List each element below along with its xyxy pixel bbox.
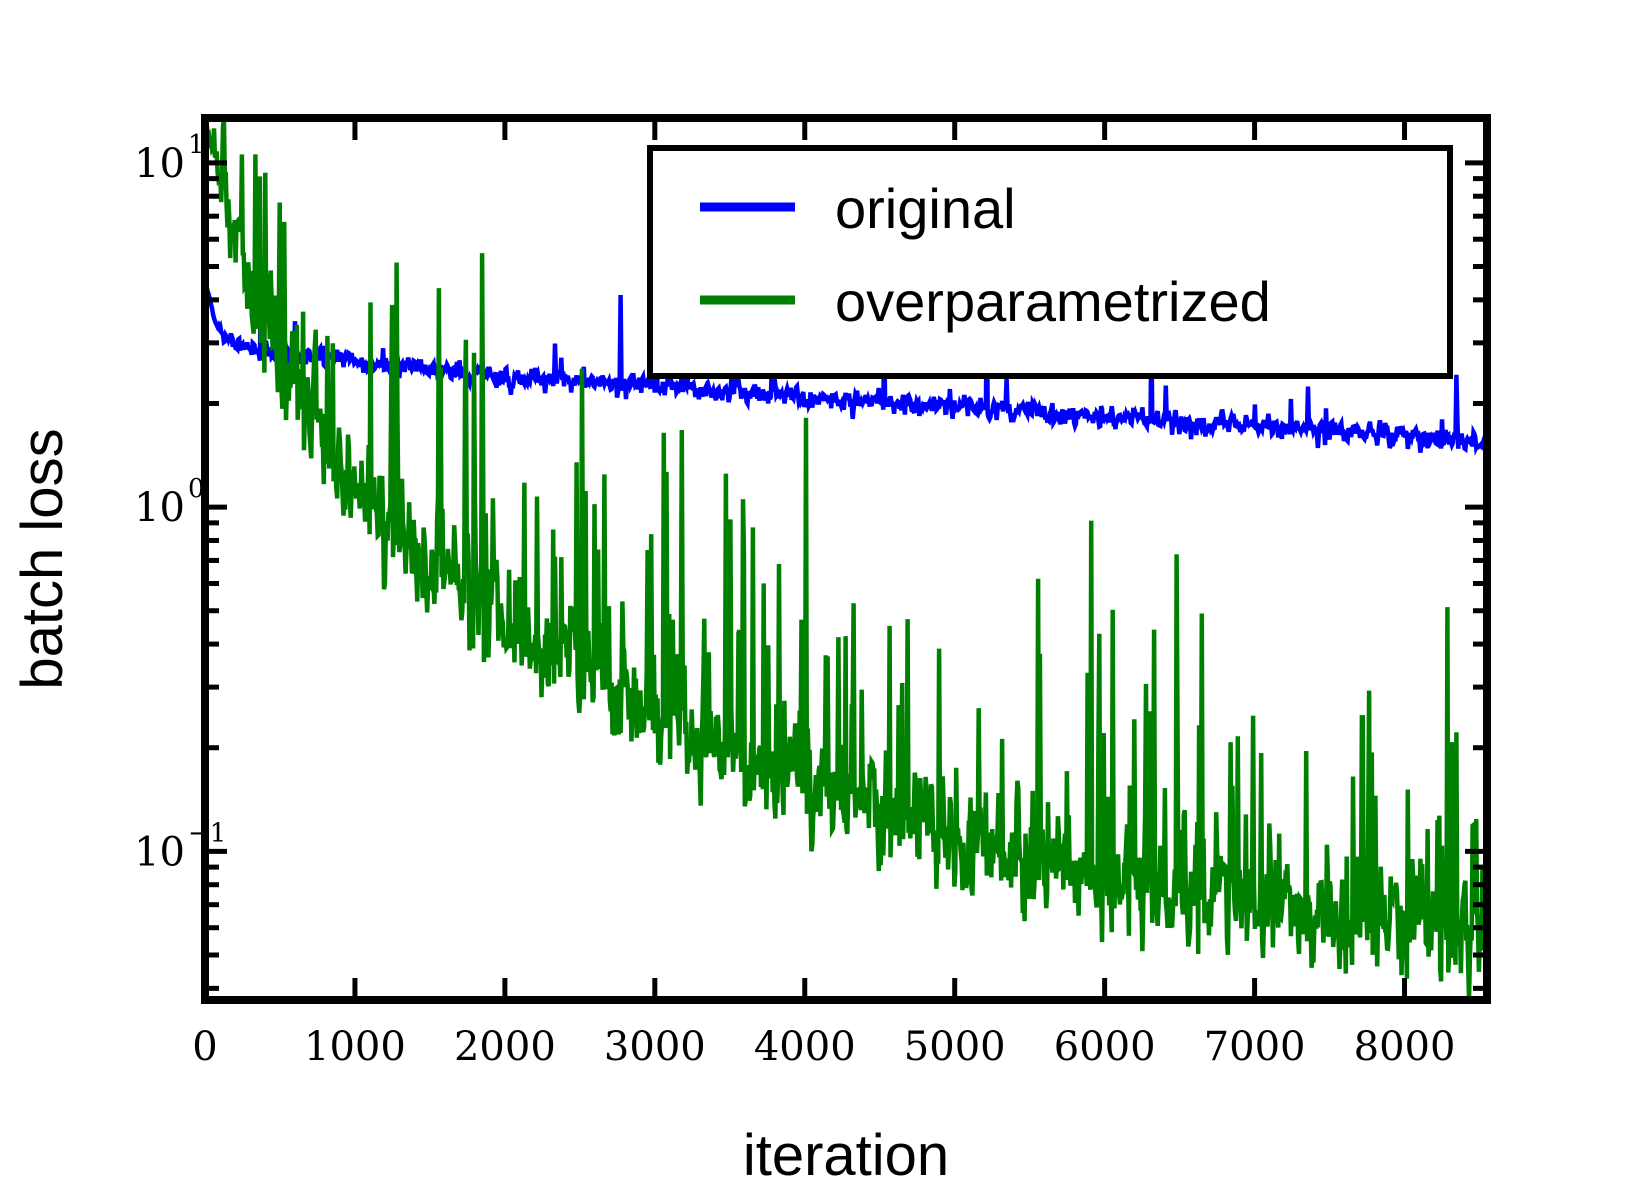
legend: original overparametrized — [650, 148, 1450, 376]
x-tick-label: 8000 — [1354, 1024, 1456, 1070]
svg-text:1: 1 — [188, 130, 205, 160]
svg-text:10: 10 — [134, 485, 185, 531]
svg-text:−1: −1 — [188, 818, 226, 848]
y-tick-label: 100 — [134, 474, 204, 531]
svg-text:10: 10 — [134, 829, 185, 875]
x-tick-label: 5000 — [904, 1024, 1006, 1070]
x-tick-label: 2000 — [454, 1024, 556, 1070]
figure-container: 010002000300040005000600070008000 101100… — [0, 0, 1648, 1197]
x-tick-label: 7000 — [1204, 1024, 1306, 1070]
svg-text:10: 10 — [134, 141, 185, 187]
y-axis-label: batch loss — [10, 428, 75, 689]
x-tick-label: 6000 — [1054, 1024, 1156, 1070]
legend-frame — [650, 148, 1450, 376]
x-tick-label: 1000 — [304, 1024, 406, 1070]
x-tick-labels: 010002000300040005000600070008000 — [192, 1024, 1455, 1070]
x-tick-label: 0 — [192, 1024, 217, 1070]
svg-text:0: 0 — [188, 474, 205, 504]
legend-label-overparametrized: overparametrized — [835, 270, 1271, 333]
legend-label-original: original — [835, 177, 1016, 240]
y-tick-label: 101 — [134, 130, 204, 187]
x-axis-label: iteration — [743, 1123, 949, 1188]
chart-canvas: 010002000300040005000600070008000 101100… — [0, 0, 1648, 1197]
x-tick-label: 4000 — [754, 1024, 856, 1070]
x-tick-label: 3000 — [604, 1024, 706, 1070]
